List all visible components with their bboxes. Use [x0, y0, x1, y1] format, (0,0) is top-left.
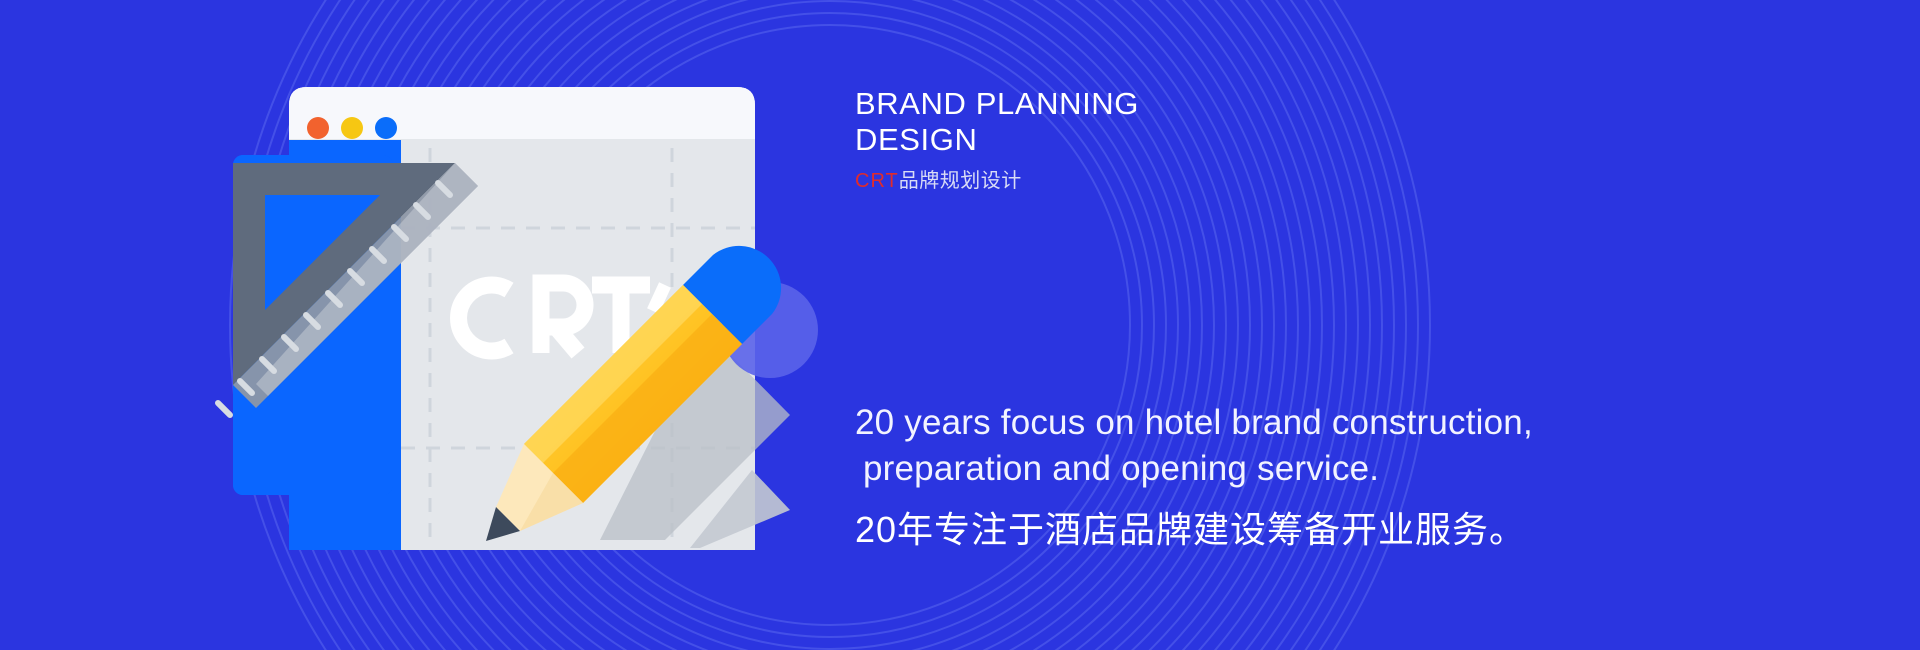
- ruler-tip-sliver: [690, 470, 790, 548]
- minimize-dot: [341, 117, 363, 139]
- brand-mark: CRT: [855, 170, 899, 192]
- brand-banner: BRAND PLANNING DESIGN CRT品牌规划设计 20 years…: [0, 0, 1920, 650]
- triangle-ruler: [218, 163, 478, 415]
- browser-window: [289, 87, 755, 550]
- maximize-dot: [375, 117, 397, 139]
- tagline-cn: 20年专注于酒店品牌建设筹备开业服务。: [855, 506, 1715, 554]
- crt-logo: [459, 283, 665, 353]
- guide-lines: [401, 148, 755, 548]
- ruler-ticks: [218, 183, 450, 415]
- tagline-en-line-1: 20 years focus on hotel brand constructi…: [855, 403, 1533, 442]
- heading-subtitle-text: 品牌规划设计: [899, 170, 1022, 192]
- heading-title-en: BRAND PLANNING DESIGN: [855, 86, 1475, 158]
- tagline-block: 20 years focus on hotel brand constructi…: [855, 400, 1715, 554]
- tagline-en-line-2: preparation and opening service.: [855, 446, 1715, 492]
- pencil-shadow: [600, 330, 790, 540]
- text-column: BRAND PLANNING DESIGN CRT品牌规划设计 20 years…: [855, 0, 1865, 650]
- heading-block: BRAND PLANNING DESIGN CRT品牌规划设计: [855, 86, 1475, 194]
- close-dot: [307, 117, 329, 139]
- pencil: [486, 246, 818, 541]
- blue-panel: [289, 140, 401, 550]
- blue-panel-extension: [233, 155, 393, 495]
- tagline-en: 20 years focus on hotel brand constructi…: [855, 400, 1715, 492]
- hero-illustration: [0, 0, 900, 650]
- heading-subtitle-cn: CRT品牌规划设计: [855, 168, 1475, 194]
